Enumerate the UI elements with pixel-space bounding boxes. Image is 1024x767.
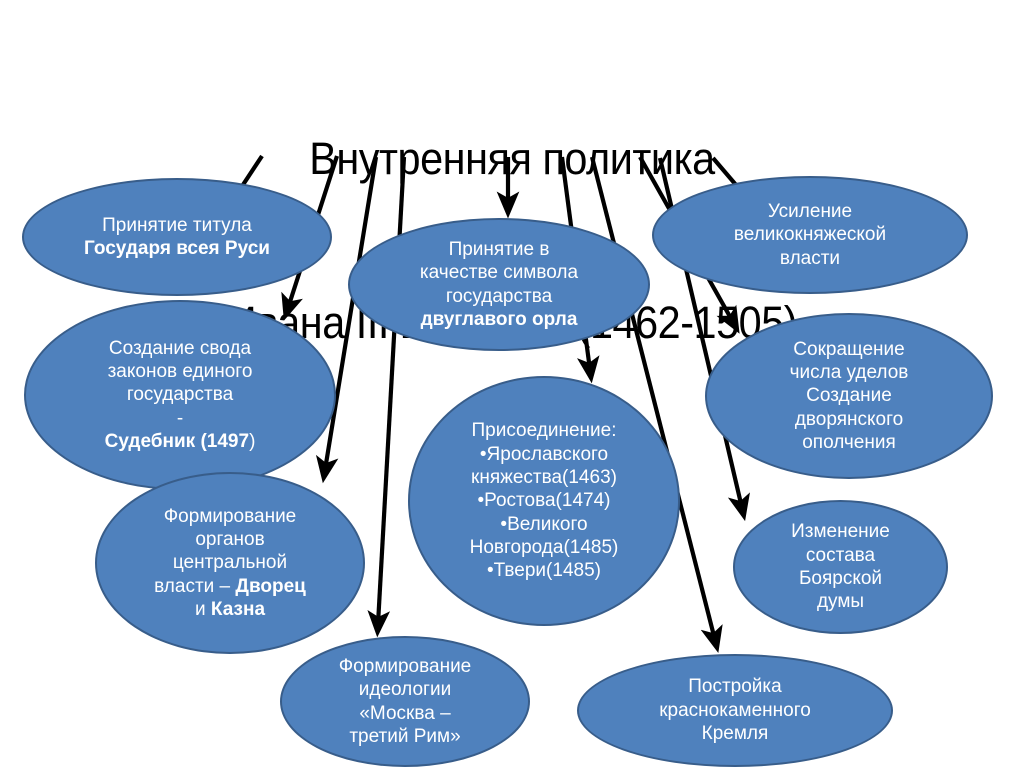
node-annexation[interactable]: Присоединение:•Ярославскогокняжества(146… bbox=[408, 376, 680, 626]
node-title-acceptance[interactable]: Принятие титулаГосударя всея Руси bbox=[22, 178, 332, 296]
node-grand-power[interactable]: Усилениевеликокняжескойвласти bbox=[652, 176, 968, 294]
node-ideology-text: Формированиеидеологии«Москва –третий Рим… bbox=[292, 655, 518, 748]
node-law-code-text: Создание сводазаконов единогогосударства… bbox=[36, 337, 324, 454]
node-annexation-text: Присоединение:•Ярославскогокняжества(146… bbox=[420, 419, 668, 583]
node-law-code[interactable]: Создание сводазаконов единогогосударства… bbox=[24, 300, 336, 490]
node-kremlin-text: ПостройкакраснокаменногоКремля bbox=[589, 675, 881, 745]
node-boyar-duma-text: ИзменениесоставаБоярскойдумы bbox=[745, 520, 936, 613]
slide-canvas: Внутренняя политика Ивана III великого (… bbox=[0, 0, 1024, 767]
node-appanages[interactable]: Сокращениечисла уделовСозданиедворянског… bbox=[705, 313, 993, 479]
node-grand-power-text: Усилениевеликокняжескойвласти bbox=[664, 200, 956, 270]
node-appanages-text: Сокращениечисла уделовСозданиедворянског… bbox=[717, 338, 981, 455]
node-double-eagle[interactable]: Принятие вкачестве символагосударствадву… bbox=[348, 218, 650, 351]
node-title-acceptance-text: Принятие титулаГосударя всея Руси bbox=[34, 214, 320, 261]
node-kremlin[interactable]: ПостройкакраснокаменногоКремля bbox=[577, 654, 893, 767]
node-ideology[interactable]: Формированиеидеологии«Москва –третий Рим… bbox=[280, 636, 530, 767]
node-central-organs-text: Формированиеоргановцентральнойвласти – Д… bbox=[107, 505, 353, 622]
node-central-organs[interactable]: Формированиеоргановцентральнойвласти – Д… bbox=[95, 472, 365, 654]
node-double-eagle-text: Принятие вкачестве символагосударствадву… bbox=[360, 238, 638, 331]
node-boyar-duma[interactable]: ИзменениесоставаБоярскойдумы bbox=[733, 500, 948, 634]
